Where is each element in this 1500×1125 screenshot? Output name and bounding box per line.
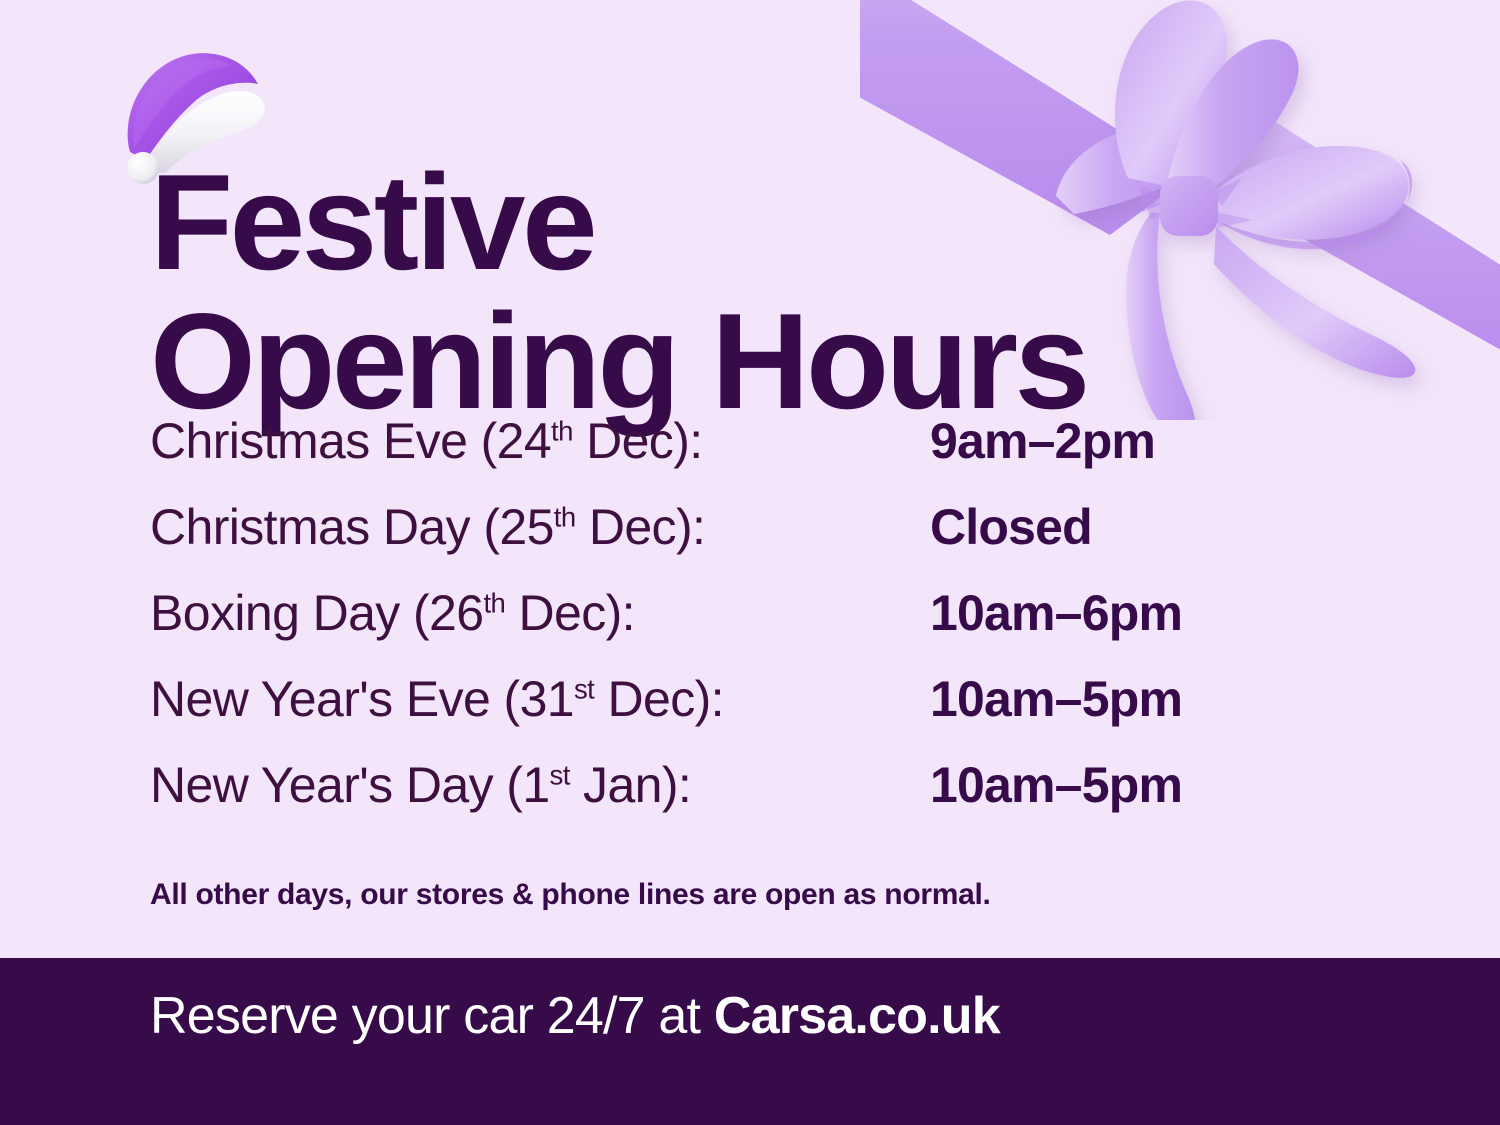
hours-day-text: Christmas Eve (24: [150, 413, 551, 469]
brand-name[interactable]: Carsa.co.uk: [714, 987, 1000, 1045]
hours-day-ordinal: st: [574, 673, 594, 704]
hours-day-text: Boxing Day (26: [150, 585, 483, 641]
hours-day-label: Christmas Eve (24th Dec):: [150, 412, 930, 470]
hours-day-text: Christmas Day (25: [150, 499, 554, 555]
hours-day-ordinal: th: [483, 587, 505, 618]
page-title-line-2: Opening Hours: [150, 292, 1087, 431]
table-row: Boxing Day (26th Dec): 10am–6pm: [150, 584, 1270, 670]
hours-day-ordinal: th: [551, 415, 573, 446]
hours-day-label: New Year's Eve (31st Dec):: [150, 670, 930, 728]
footer-cta-prefix: Reserve your car 24/7 at: [150, 987, 714, 1045]
page-title-line-1: Festive: [150, 153, 1087, 292]
hours-time-value: 10am–6pm: [930, 584, 1182, 642]
footer-cta: Reserve your car 24/7 at Carsa.co.uk: [150, 986, 1000, 1046]
hours-time-value: 10am–5pm: [930, 756, 1182, 814]
hours-time-value: 10am–5pm: [930, 670, 1182, 728]
santa-hat-icon: [108, 40, 278, 185]
footnote-text: All other days, our stores & phone lines…: [150, 878, 991, 912]
table-row: Christmas Eve (24th Dec): 9am–2pm: [150, 412, 1270, 498]
hours-time-value: Closed: [930, 498, 1092, 556]
hours-day-label: Christmas Day (25th Dec):: [150, 498, 930, 556]
hours-day-text-end: Dec):: [505, 585, 635, 641]
hours-day-text-end: Dec):: [594, 671, 724, 727]
hours-day-label: New Year's Day (1st Jan):: [150, 756, 930, 814]
page-title: Festive Opening Hours: [150, 153, 1087, 430]
opening-hours-table: Christmas Eve (24th Dec): 9am–2pm Christ…: [150, 412, 1270, 842]
hours-day-label: Boxing Day (26th Dec):: [150, 584, 930, 642]
festive-opening-hours-poster: Festive Opening Hours Christmas Eve (24t…: [0, 0, 1500, 1125]
hours-day-text-end: Jan):: [570, 757, 691, 813]
footer-bar: Reserve your car 24/7 at Carsa.co.uk: [0, 958, 1500, 1125]
hours-day-ordinal: st: [550, 759, 570, 790]
table-row: New Year's Day (1st Jan): 10am–5pm: [150, 756, 1270, 842]
hours-day-text-end: Dec):: [573, 413, 703, 469]
table-row: New Year's Eve (31st Dec): 10am–5pm: [150, 670, 1270, 756]
table-row: Christmas Day (25th Dec): Closed: [150, 498, 1270, 584]
hours-day-text-end: Dec):: [576, 499, 706, 555]
hours-day-ordinal: th: [554, 501, 576, 532]
hours-day-text: New Year's Day (1: [150, 757, 550, 813]
hours-time-value: 9am–2pm: [930, 412, 1155, 470]
hours-day-text: New Year's Eve (31: [150, 671, 574, 727]
